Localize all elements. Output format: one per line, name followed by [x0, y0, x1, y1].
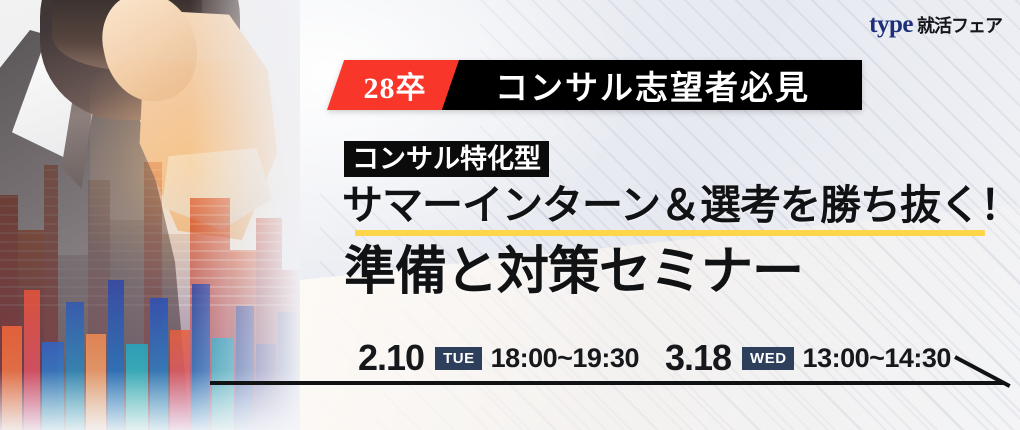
right-arrow-head-icon: [955, 355, 1009, 385]
seminar-banner: type 就活フェア 28卒 コンサル志望者必見 コンサル特化型 サマーインター…: [0, 0, 1020, 430]
eyebrow-strip: 28卒 コンサル志望者必見: [327, 60, 810, 110]
schedule-day-badge-2: WED: [742, 347, 794, 370]
schedule-item-1: 2.10 TUE 18:00~19:30: [358, 340, 639, 376]
schedule-time-2: 13:00~14:30: [803, 345, 951, 372]
schedule-time-1: 18:00~19:30: [491, 345, 639, 372]
schedule-row: 2.10 TUE 18:00~19:30 3.18 WED 13:00~14:3…: [358, 340, 951, 376]
schedule-item-2: 3.18 WED 13:00~14:30: [665, 340, 951, 376]
grad-year-label: 28卒: [364, 63, 427, 107]
logo-suffix-text: 就活フェア: [917, 17, 1002, 35]
eyebrow-headline: コンサル志望者必見: [459, 60, 810, 110]
businessman-cityscape-double-exposure-photo: [0, 0, 300, 430]
grad-year-badge: 28卒: [327, 60, 459, 110]
category-tag: コンサル特化型: [344, 141, 549, 177]
headline-line-2: 準備と対策セミナー: [344, 243, 803, 303]
schedule-day-badge-1: TUE: [435, 347, 482, 370]
photo-right-fade: [190, 0, 300, 430]
schedule-date-1: 2.10: [358, 340, 424, 376]
right-arrow-rule: [210, 381, 1004, 385]
schedule-date-2: 3.18: [665, 340, 731, 376]
logo-brand-text: type: [869, 12, 913, 37]
category-tag-label: コンサル特化型: [352, 146, 541, 173]
photo-bottom-fade: [0, 370, 300, 430]
type-shukatsu-fair-logo[interactable]: type 就活フェア: [869, 12, 1002, 37]
headline-line-1: サマーインターン＆選考を勝ち抜く！: [342, 183, 1020, 228]
headline-underline: [355, 230, 985, 236]
